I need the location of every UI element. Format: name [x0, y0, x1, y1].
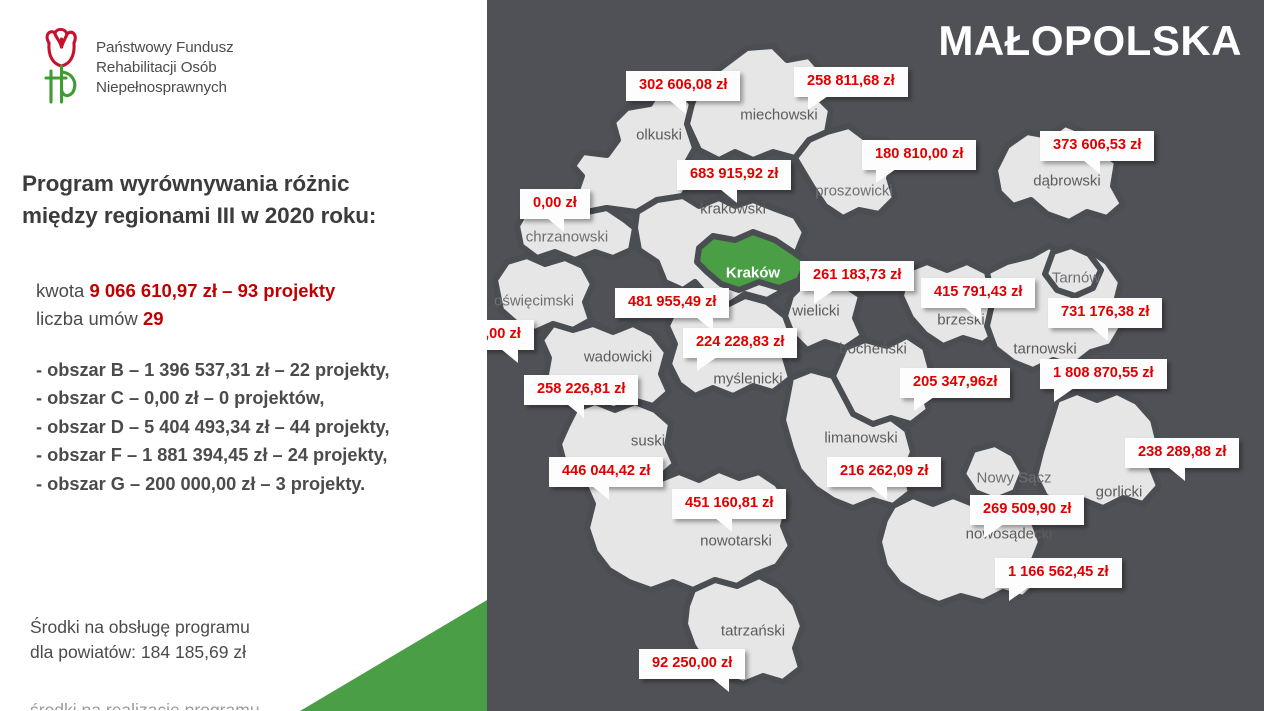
callout-miechowski: 258 811,68 zł [794, 67, 908, 97]
page-title: Program wyrównywania różnic między regio… [22, 168, 472, 232]
callout-tail-icon [814, 290, 834, 304]
callout-tail-icon [567, 404, 584, 418]
callout-value: 1 166 562,45 zł [1008, 564, 1109, 580]
callout-oswiecimski: 0,00 zł [487, 320, 534, 350]
callout-value: 269 509,90 zł [983, 501, 1071, 517]
area-item-f: - obszar F – 1 881 394,45 zł – 24 projek… [36, 441, 482, 469]
callout-limanowski: 216 262,09 zł [827, 457, 941, 487]
callout-tail-icon [712, 678, 729, 692]
callout-value: 481 955,49 zł [628, 294, 716, 310]
callout-bochenski: 205 347,96zł [900, 368, 1010, 398]
contracts-row: liczba umów 29 [36, 305, 476, 333]
callout-value: 258 226,81 zł [537, 381, 625, 397]
callout-gorlicki: 238 289,88 zł [1125, 438, 1239, 468]
callout-value: 446 044,42 zł [562, 463, 650, 479]
callout-tail-icon [547, 218, 564, 232]
county-nowotarski [585, 470, 791, 590]
callout-value: 205 347,96zł [913, 374, 997, 390]
callout-value: 683 915,92 zł [690, 166, 778, 182]
pfron-logo: Państwowy Fundusz Rehabilitacji Osób Nie… [38, 26, 234, 106]
callout-tail-icon [501, 349, 518, 363]
administration-funds-note: Środki na obsługę programu dla powiatów:… [30, 615, 360, 666]
callout-value: 92 250,00 zł [652, 655, 732, 671]
callout-chrzanowski: 0,00 zł [520, 189, 590, 219]
callout-tail-icon [1054, 388, 1074, 402]
callout-tail-icon [697, 357, 717, 371]
callout-tail-icon [720, 189, 737, 203]
callout-brzeski: 415 791,43 zł [921, 278, 1035, 308]
callout-tail-icon [870, 486, 887, 500]
area-item-c: - obszar C – 0,00 zł – 0 projektów, [36, 384, 482, 412]
pfron-tulip-logo-icon [38, 26, 86, 106]
callout-value: 261 183,73 zł [813, 267, 901, 283]
clipped-note: środki na realizację programu [30, 700, 430, 710]
total-amount-value: 9 066 610,97 zł – 93 projekty [89, 280, 335, 301]
callout-proszowicki: 180 810,00 zł [862, 140, 976, 170]
callout-value: 0,00 zł [487, 326, 521, 342]
callout-tatrzanski: 92 250,00 zł [639, 649, 745, 679]
contracts-value: 29 [143, 308, 164, 329]
callout-value: 302 606,08 zł [639, 77, 727, 93]
callout-tarnow: 731 176,38 zł [1048, 298, 1162, 328]
callout-tail-icon [669, 100, 686, 114]
callout-suski: 446 044,42 zł [549, 457, 663, 487]
callout-value: 238 289,88 zł [1138, 444, 1226, 460]
callout-value: 258 811,68 zł [807, 73, 895, 89]
callout-tail-icon [808, 96, 828, 110]
area-item-g: - obszar G – 200 000,00 zł – 3 projekty. [36, 470, 482, 498]
callout-value: 0,00 zł [533, 195, 577, 211]
county-nowy-sacz-city [963, 444, 1023, 500]
callout-nowy-sacz: 269 509,90 zł [970, 495, 1084, 525]
callout-tail-icon [1009, 587, 1029, 601]
malopolska-map [487, 0, 1264, 711]
callout-tail-icon [715, 518, 732, 532]
pfron-logo-text: Państwowy Fundusz Rehabilitacji Osób Nie… [96, 26, 234, 98]
callout-value: 451 160,81 zł [685, 495, 773, 511]
callout-tail-icon [1091, 327, 1108, 341]
callout-tail-icon [914, 397, 934, 411]
callout-myslenicki: 224 228,83 zł [683, 328, 797, 358]
callout-tarnowski: 1 808 870,55 zł [1040, 359, 1167, 389]
callout-krakow: 261 183,73 zł [800, 261, 914, 291]
callout-value: 1 808 870,55 zł [1053, 365, 1154, 381]
callout-value: 373 606,53 zł [1053, 137, 1141, 153]
callout-krakow-land: 481 955,49 zł [615, 288, 729, 318]
callout-tail-icon [876, 169, 896, 183]
areas-list: - obszar B – 1 396 537,31 zł – 22 projek… [36, 356, 482, 498]
callout-value: 415 791,43 zł [934, 284, 1022, 300]
contracts-prefix: liczba umów [36, 308, 143, 329]
callout-krakowski: 683 915,92 zł [677, 160, 791, 190]
callout-nowotarski: 451 160,81 zł [672, 489, 786, 519]
callout-nowosadecki: 1 166 562,45 zł [995, 558, 1122, 588]
info-panel: Państwowy Fundusz Rehabilitacji Osób Nie… [0, 0, 487, 711]
callout-olkuski: 302 606,08 zł [626, 71, 740, 101]
callout-tail-icon [592, 486, 609, 500]
callout-dabrowski: 373 606,53 zł [1040, 131, 1154, 161]
area-item-d: - obszar D – 5 404 493,34 zł – 44 projek… [36, 413, 482, 441]
callout-tail-icon [964, 307, 981, 321]
callout-value: 180 810,00 zł [875, 146, 963, 162]
callout-tail-icon [1083, 160, 1100, 174]
total-amount-row: kwota 9 066 610,97 zł – 93 projekty [36, 277, 476, 305]
total-amount-prefix: kwota [36, 280, 89, 301]
callout-value: 731 176,38 zł [1061, 304, 1149, 320]
callout-value: 224 228,83 zł [696, 334, 784, 350]
map-panel: MAŁOPOLSKA [487, 0, 1264, 711]
area-item-b: - obszar B – 1 396 537,31 zł – 22 projek… [36, 356, 482, 384]
callout-wadowicki: 258 226,81 zł [524, 375, 638, 405]
amount-summary: kwota 9 066 610,97 zł – 93 projekty licz… [36, 277, 476, 334]
callout-value: 216 262,09 zł [840, 463, 928, 479]
callout-tail-icon [984, 524, 1004, 538]
callout-tail-icon [1168, 467, 1185, 481]
